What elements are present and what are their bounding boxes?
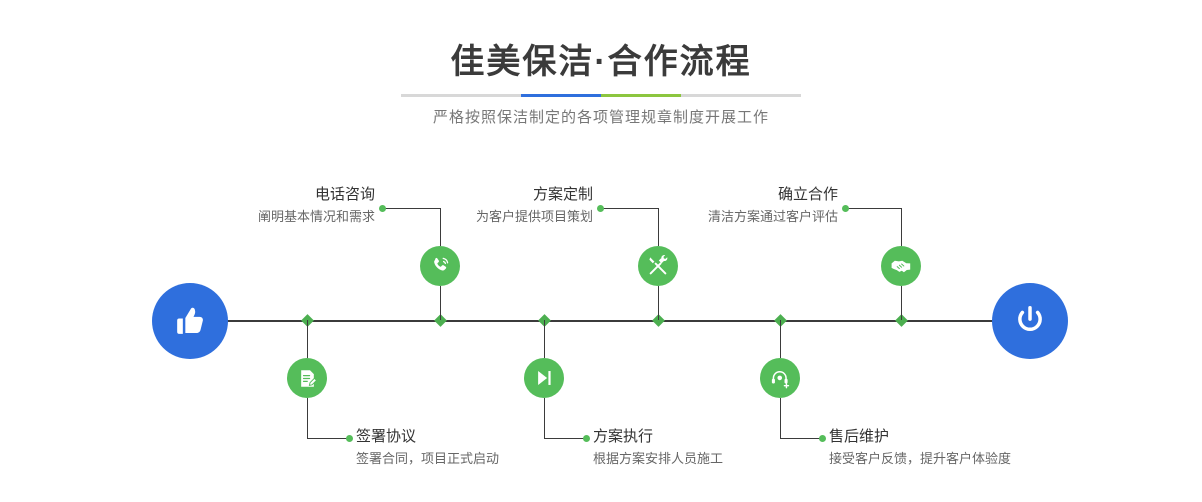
step-4-leader <box>544 438 586 439</box>
step-6-stem-lower <box>780 398 781 438</box>
step-6-leader <box>780 438 822 439</box>
power-icon <box>1011 302 1049 340</box>
step-1-icon-node <box>420 246 460 286</box>
step-4-stem-lower <box>544 398 545 438</box>
step-4-dot <box>583 435 590 442</box>
step-6-stem-upper <box>780 320 781 358</box>
timeline-start-node <box>152 283 228 359</box>
step-5-icon-node <box>881 246 921 286</box>
step-4-stem-upper <box>544 320 545 358</box>
handshake-icon <box>889 254 913 278</box>
step-2-icon-node <box>287 358 327 398</box>
step-6-dot <box>819 435 826 442</box>
page-title: 佳美保洁·合作流程 <box>0 34 1202 83</box>
step-5-leader <box>845 208 901 209</box>
step-5-stem <box>901 208 902 246</box>
document-edit-icon <box>296 367 319 390</box>
step-1-stem-lower <box>440 286 441 320</box>
step-3-stem-lower <box>658 286 659 320</box>
step-1-label: 电话咨询 阐明基本情况和需求 <box>120 186 375 226</box>
step-4-icon-node <box>524 358 564 398</box>
flow-diagram: 佳美保洁·合作流程 严格按照保洁制定的各项管理规章制度开展工作 电话咨询 阐明 <box>0 0 1202 502</box>
tools-icon <box>646 254 670 278</box>
timeline-end-node <box>992 283 1068 359</box>
step-5-stem-lower <box>901 286 902 320</box>
step-6-icon-node <box>760 358 800 398</box>
page-subtitle: 严格按照保洁制定的各项管理规章制度开展工作 <box>0 106 1202 127</box>
title-rule-left <box>401 94 521 97</box>
step-6-label: 售后维护 接受客户反馈，提升客户体验度 <box>829 428 1169 468</box>
phone-call-icon <box>428 254 452 278</box>
step-2-leader <box>307 438 349 439</box>
title-rule-green <box>601 94 681 97</box>
step-2-dot <box>346 435 353 442</box>
thumbs-up-icon <box>170 301 210 341</box>
step-2-stem-upper <box>307 320 308 358</box>
step-3-icon-node <box>638 246 678 286</box>
step-5-dot <box>842 205 849 212</box>
customer-service-add-icon <box>769 367 792 390</box>
title-rule-right <box>681 94 801 97</box>
step-3-label: 方案定制 为客户提供项目策划 <box>340 186 593 226</box>
step-2-stem-lower <box>307 398 308 438</box>
play-forward-icon <box>533 367 555 389</box>
step-5-label: 确立合作 清洁方案通过客户评估 <box>590 186 838 226</box>
